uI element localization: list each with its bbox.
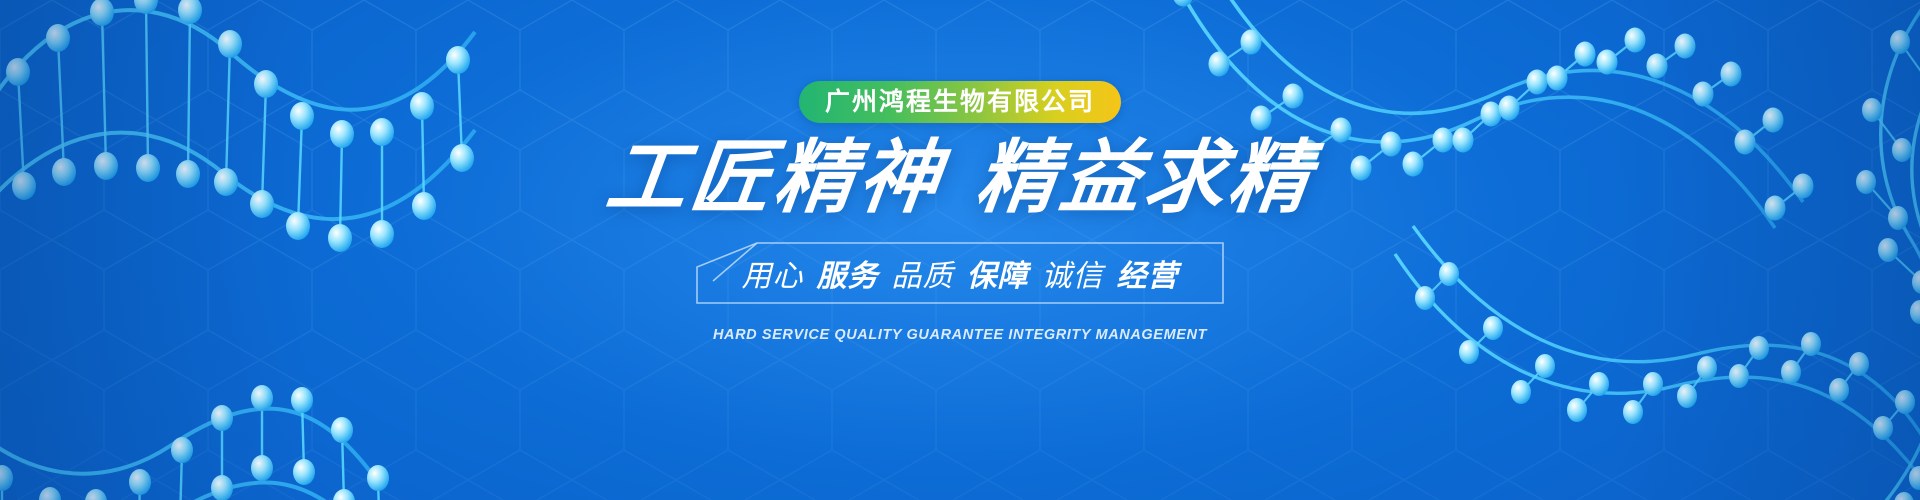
headline-part-2: 精益求精 bbox=[972, 133, 1319, 222]
subtitle-seg-4: 诚信 bbox=[1042, 251, 1104, 295]
headline-part-1: 工匠精神 bbox=[602, 133, 949, 222]
subtitle-seg-1: 服务 bbox=[817, 251, 879, 295]
subtitle-text: 用心服务 品质保障 诚信经营 bbox=[695, 241, 1225, 305]
company-name-badge: 广州鸿程生物有限公司 bbox=[799, 81, 1121, 123]
headline: 工匠精神精益求精 bbox=[602, 137, 1318, 219]
english-tagline: HARD SERVICE QUALITY GUARANTEE INTEGRITY… bbox=[713, 327, 1207, 343]
subtitle-box: 用心服务 品质保障 诚信经营 bbox=[695, 241, 1225, 305]
banner-content: 广州鸿程生物有限公司 工匠精神精益求精 用心服务 品质保障 诚信经营 HARD … bbox=[0, 0, 1920, 500]
promo-banner: 广州鸿程生物有限公司 工匠精神精益求精 用心服务 品质保障 诚信经营 HARD … bbox=[0, 0, 1920, 500]
subtitle-seg-2: 品质 bbox=[892, 251, 954, 295]
subtitle-seg-3: 保障 bbox=[967, 251, 1029, 295]
subtitle-seg-0: 用心 bbox=[742, 251, 804, 295]
subtitle-seg-5: 经营 bbox=[1117, 251, 1179, 295]
